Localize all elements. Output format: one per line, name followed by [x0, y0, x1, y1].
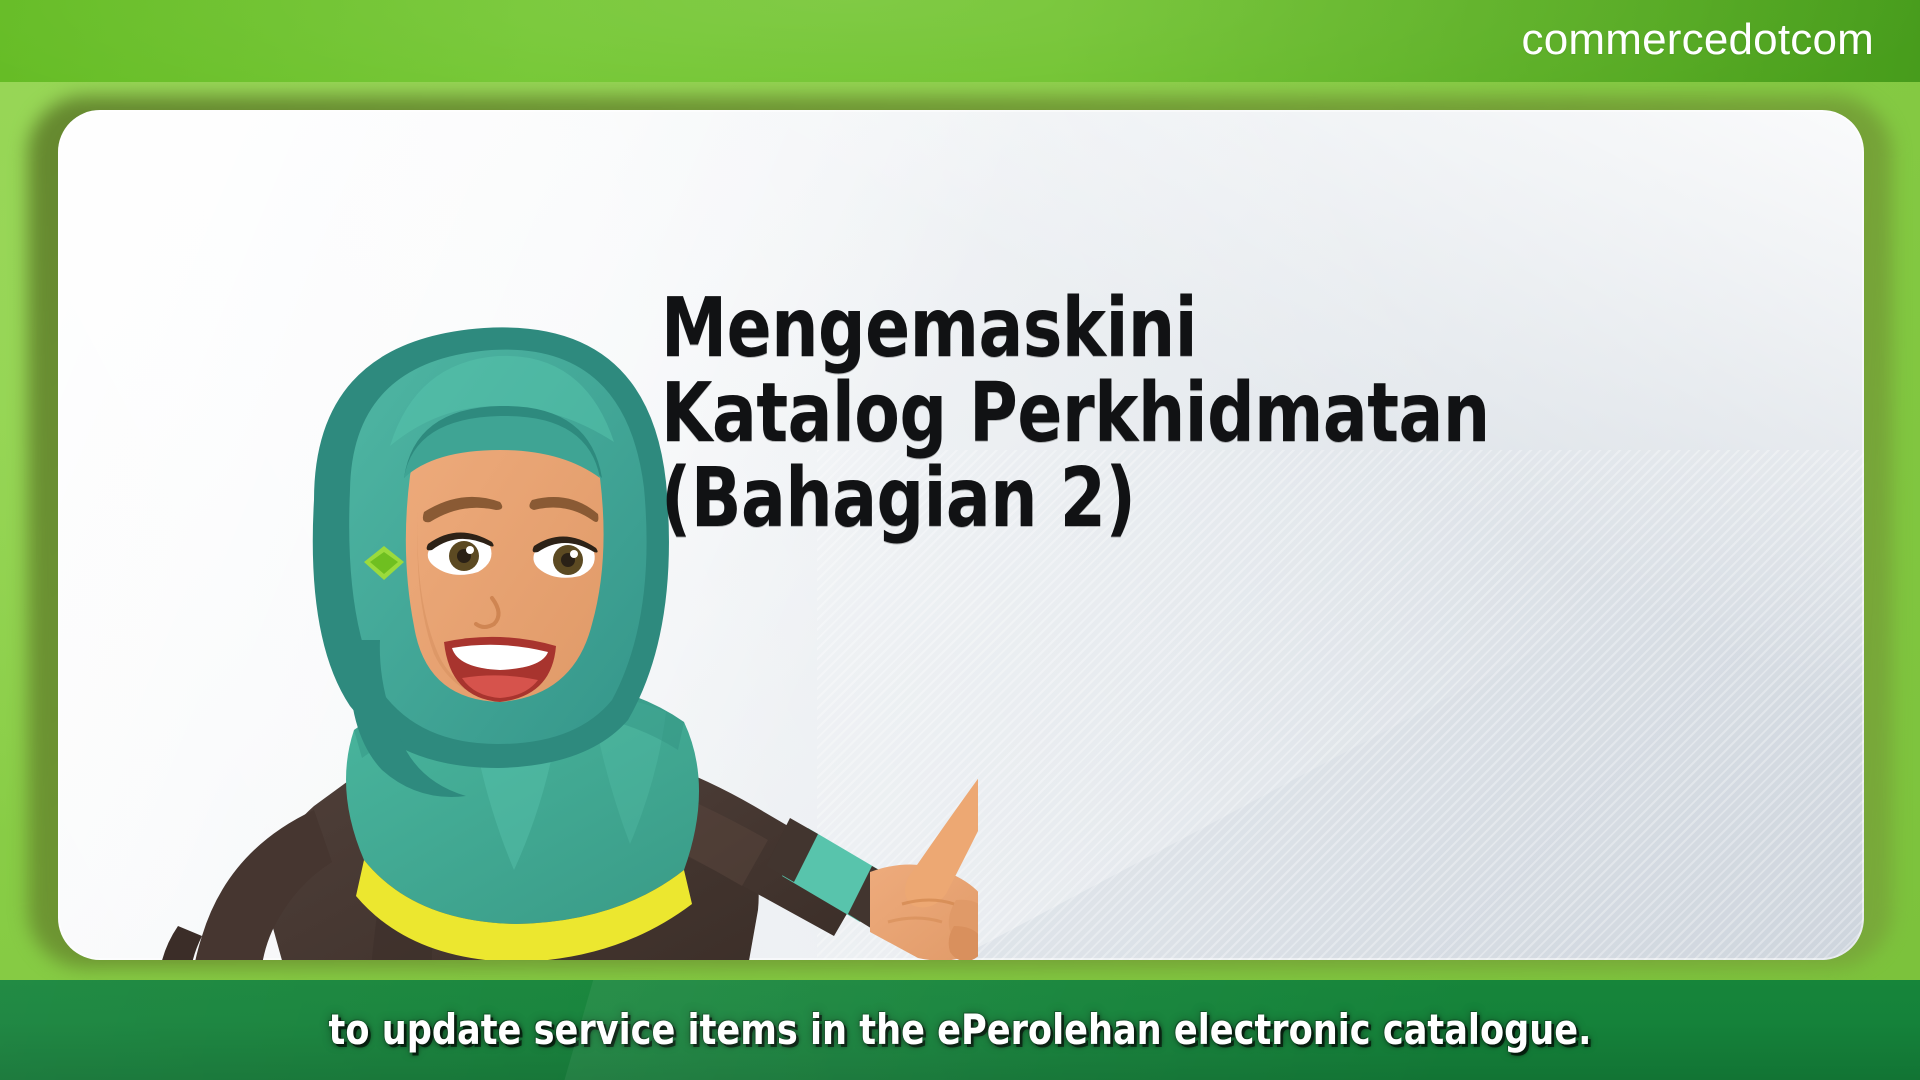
subtitle-text: to update service items in the ePeroleha…: [329, 1009, 1592, 1051]
title-line-3: (Bahagian 2): [661, 456, 1490, 541]
subtitle-band: to update service items in the ePeroleha…: [0, 980, 1920, 1080]
slide-title: Mengemaskini Katalog Perkhidmatan (Bahag…: [661, 286, 1582, 541]
title-line-1: Mengemaskini: [661, 286, 1490, 371]
character-pointing-hand: [870, 766, 978, 960]
top-brand-bar: commercedotcom: [0, 0, 1920, 82]
brand-logo: commercedotcom: [1522, 18, 1874, 62]
title-line-2: Katalog Perkhidmatan: [661, 371, 1490, 456]
slide-stage: Mengemaskini Katalog Perkhidmatan (Bahag…: [0, 82, 1920, 980]
whiteboard-surface: Mengemaskini Katalog Perkhidmatan (Bahag…: [58, 110, 1864, 960]
